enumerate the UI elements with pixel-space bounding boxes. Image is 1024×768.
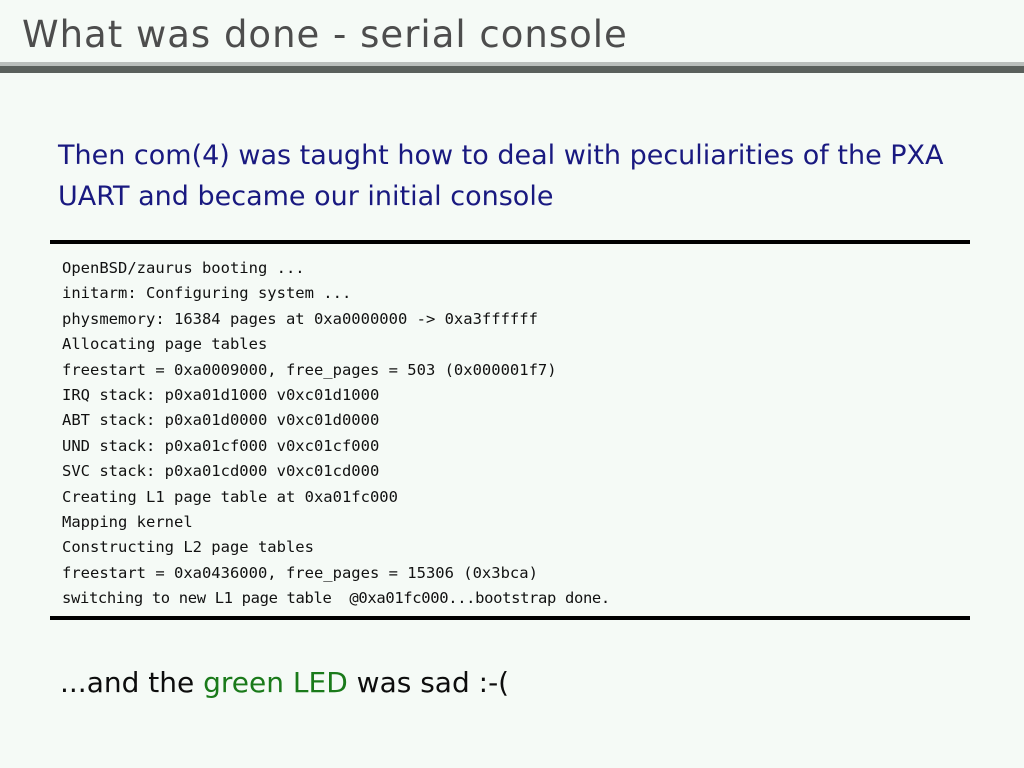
- console-output-text: OpenBSD/zaurus booting ... initarm: Conf…: [50, 244, 970, 612]
- bottom-caption: ...and the green LED was sad :-(: [60, 663, 509, 703]
- console-line: Constructing L2 page tables: [62, 538, 314, 556]
- console-bottom-divider: [50, 616, 970, 620]
- console-line: Allocating page tables: [62, 335, 267, 353]
- caption-highlight: green LED: [203, 666, 348, 699]
- caption-suffix: was sad :-(: [348, 666, 509, 699]
- console-line: Creating L1 page table at 0xa01fc000: [62, 488, 398, 506]
- console-line: initarm: Configuring system ...: [62, 284, 351, 302]
- console-line: freestart = 0xa0009000, free_pages = 503…: [62, 361, 557, 379]
- console-line: switching to new L1 page table @0xa01fc0…: [62, 589, 610, 607]
- lead-paragraph: Then com(4) was taught how to deal with …: [58, 135, 958, 217]
- caption-prefix: ...and the: [60, 666, 203, 699]
- page-title: What was done - serial console: [22, 12, 628, 58]
- title-divider: [0, 62, 1024, 73]
- console-line: freestart = 0xa0436000, free_pages = 153…: [62, 564, 538, 582]
- console-line: IRQ stack: p0xa01d1000 v0xc01d1000: [62, 386, 379, 404]
- console-line: Mapping kernel: [62, 513, 193, 531]
- console-line: SVC stack: p0xa01cd000 v0xc01cd000: [62, 462, 379, 480]
- console-line: ABT stack: p0xa01d0000 v0xc01d0000: [62, 411, 379, 429]
- console-line: physmemory: 16384 pages at 0xa0000000 ->…: [62, 310, 538, 328]
- console-line: UND stack: p0xa01cf000 v0xc01cf000: [62, 437, 379, 455]
- console-line: OpenBSD/zaurus booting ...: [62, 259, 305, 277]
- title-divider-dark-bar: [0, 66, 1024, 73]
- console-output-block: OpenBSD/zaurus booting ... initarm: Conf…: [50, 240, 970, 612]
